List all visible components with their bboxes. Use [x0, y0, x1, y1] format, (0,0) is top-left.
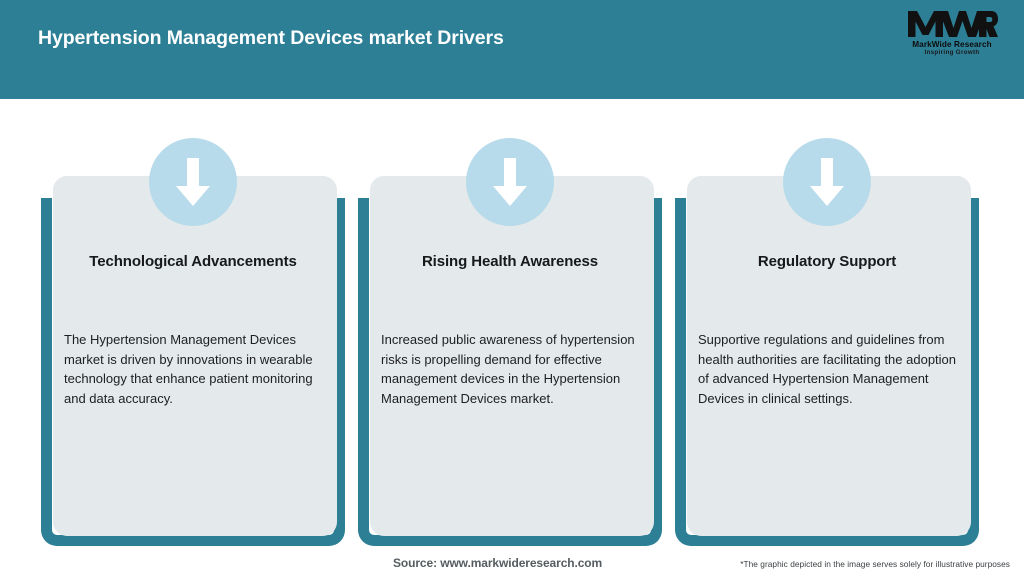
card-body-text: Supportive regulations and guidelines fr…	[698, 330, 969, 408]
driver-card-2: Rising Health Awareness Increased public…	[350, 0, 670, 576]
card-heading: Regulatory Support	[681, 252, 973, 272]
arrow-down-icon	[149, 138, 237, 226]
slide-canvas: Hypertension Management Devices market D…	[0, 0, 1024, 576]
driver-card-1: Technological Advancements The Hypertens…	[33, 0, 353, 576]
card-heading: Rising Health Awareness	[364, 252, 656, 272]
arrow-down-icon	[466, 138, 554, 226]
card-body-text: Increased public awareness of hypertensi…	[381, 330, 652, 408]
driver-card-3: Regulatory Support Supportive regulation…	[667, 0, 987, 576]
arrow-down-icon	[783, 138, 871, 226]
card-body-text: The Hypertension Management Devices mark…	[64, 330, 335, 408]
disclaimer-note: *The graphic depicted in the image serve…	[740, 559, 1010, 569]
card-heading: Technological Advancements	[47, 252, 339, 272]
source-label[interactable]: Source: www.markwideresearch.com	[393, 556, 602, 570]
